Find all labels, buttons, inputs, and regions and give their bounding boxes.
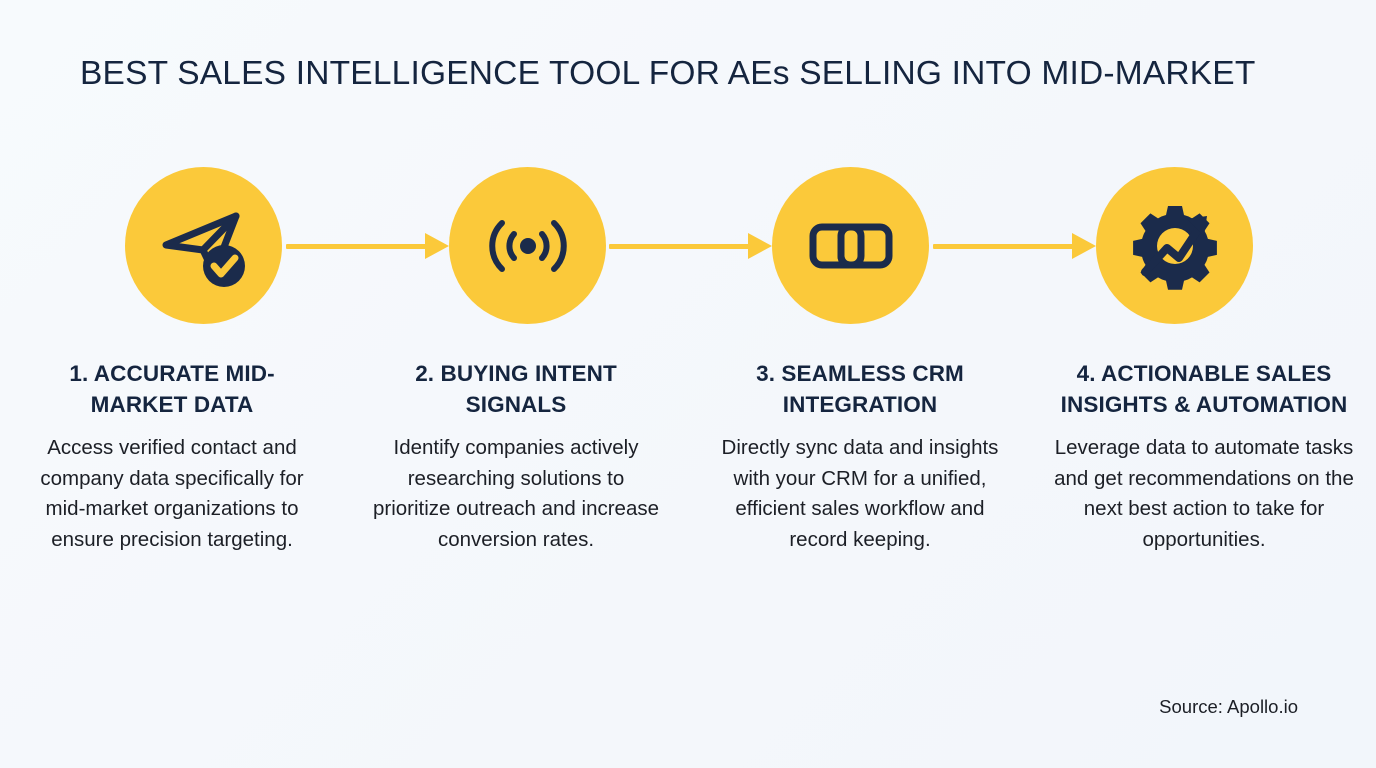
arrow-step2-to-step3 [609,238,772,254]
arrow-step3-to-step4 [933,238,1096,254]
step-4-heading: 4. ACTIONABLE SALES INSIGHTS & AUTOMATIO… [1054,358,1354,420]
arrow-shaft [609,244,749,249]
step-1-body: Access verified contact and company data… [22,433,322,555]
arrow-head [425,233,449,259]
step-4-icon-circle [1096,167,1253,324]
step-2-icon-circle [449,167,606,324]
infographic-canvas: BEST SALES INTELLIGENCE TOOL FOR AEs SEL… [0,0,1376,768]
arrow-step1-to-step2 [286,238,449,254]
step-3-icon-circle [772,167,929,324]
arrow-shaft [933,244,1073,249]
page-title: BEST SALES INTELLIGENCE TOOL FOR AEs SEL… [80,54,1310,94]
step-3-column: 3. SEAMLESS CRM INTEGRATION Directly syn… [688,358,1032,555]
step-4-body: Leverage data to automate tasks and get … [1054,433,1354,555]
step-1-column: 1. ACCURATE MID-MARKET DATA Access verif… [0,358,344,555]
step-2-body: Identify companies actively researching … [366,433,666,555]
arrow-head [748,233,772,259]
gear-trend-arrow-icon [1127,198,1223,294]
step-2-heading: 2. BUYING INTENT SIGNALS [366,358,666,420]
step-1-heading: 1. ACCURATE MID-MARKET DATA [22,358,322,420]
process-flow [0,167,1376,324]
step-2-column: 2. BUYING INTENT SIGNALS Identify compan… [344,358,688,555]
interlocking-rectangles-icon [803,198,899,294]
step-4-column: 4. ACTIONABLE SALES INSIGHTS & AUTOMATIO… [1032,358,1376,555]
step-descriptions: 1. ACCURATE MID-MARKET DATA Access verif… [0,358,1376,555]
arrow-shaft [286,244,426,249]
send-plane-check-icon [156,198,252,294]
broadcast-signal-icon [480,198,576,294]
step-3-heading: 3. SEAMLESS CRM INTEGRATION [710,358,1010,420]
step-1-icon-circle [125,167,282,324]
arrow-head [1072,233,1096,259]
source-attribution: Source: Apollo.io [1159,695,1298,719]
step-3-body: Directly sync data and insights with you… [710,433,1010,555]
